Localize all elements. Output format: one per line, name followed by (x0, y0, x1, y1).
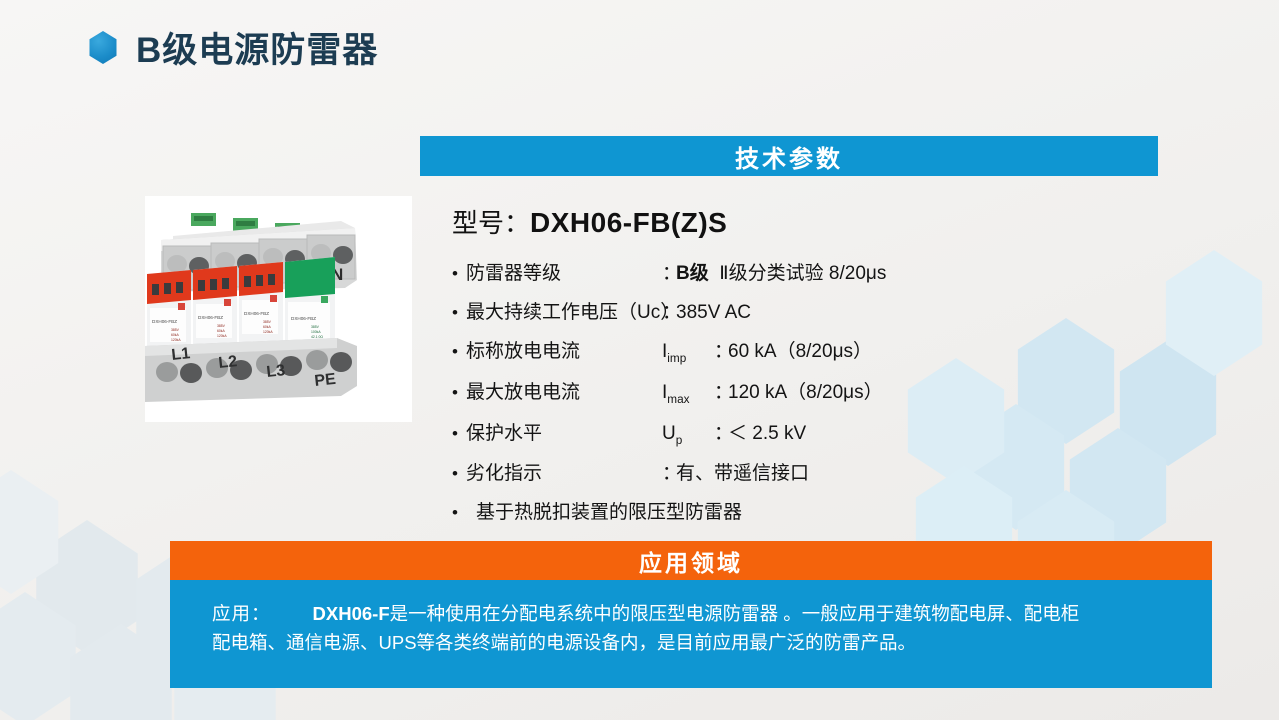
spec-colon: ： (714, 418, 728, 445)
spec-label: 劣化指示 (466, 458, 662, 485)
svg-text:120kA: 120kA (171, 338, 181, 342)
model-value: DXH06-FB(Z)S (530, 207, 727, 238)
application-lead: 应用： (212, 603, 271, 624)
spec-colon: ： (714, 336, 728, 363)
hexagon-icon (62, 624, 180, 720)
tech-params-header-text: 技术参数 (735, 139, 843, 174)
page-title: B级电源防雷器 (88, 22, 378, 73)
svg-text:385V: 385V (311, 325, 320, 329)
spec-summary-text: 基于热脱扣装置的限压型防雷器 (466, 497, 742, 524)
spec-colon: ： (662, 258, 676, 285)
svg-text:60kA: 60kA (171, 333, 179, 337)
model-label: 型号： (452, 208, 530, 238)
spec-label: 最大放电电流 (466, 377, 662, 404)
svg-text:DXH06-FBZ: DXH06-FBZ (291, 316, 316, 321)
spec-label: 最大持续工作电压（Uc） (466, 297, 662, 324)
slide-root: B级电源防雷器 技术参数 (0, 0, 1279, 720)
spec-row-iimp: • 标称放电电流 Iimp ： 60 kA（8/20μs） (452, 336, 1012, 365)
svg-text:DXH06-FBZ: DXH06-FBZ (152, 319, 177, 324)
spec-label: 保护水平 (466, 418, 662, 445)
spec-row-indicator: • 劣化指示 ： 有、带遥信接口 (452, 458, 1012, 485)
svg-text:DXH06-FBZ: DXH06-FBZ (198, 315, 223, 320)
spec-label: 标称放电电流 (466, 336, 662, 363)
spec-value: 120 kA（8/20μs） (728, 377, 883, 404)
bullet-icon: • (452, 465, 466, 482)
spec-row-imax: • 最大放电电流 Imax ： 120 kA（8/20μs） (452, 377, 1012, 406)
svg-text:120kA: 120kA (263, 330, 273, 334)
spec-symbol: Imax (662, 382, 714, 406)
svg-text:60kA: 60kA (217, 329, 225, 333)
svg-text:385V: 385V (217, 324, 226, 328)
page-title-text: B级电源防雷器 (136, 22, 378, 73)
hexagon-icon (1062, 428, 1174, 554)
spec-colon: ： (714, 377, 728, 404)
spec-symbol-sub: imp (667, 352, 686, 365)
spec-symbol-sub: max (667, 393, 689, 406)
spec-colon: ： (662, 458, 676, 485)
spec-value: 385V AC (676, 302, 751, 324)
hexagon-icon (1010, 318, 1122, 444)
application-header-text: 应用领域 (639, 544, 743, 578)
spec-value: 60 kA（8/20μs） (728, 336, 872, 363)
application-line1: 是一种使用在分配电系统中的限压型电源防雷器 。一般应用于建筑物配电屏、配电柜 (390, 603, 1080, 624)
spec-row-grade: • 防雷器等级 ： B级 Ⅱ级分类试验 8/20μs (452, 258, 1012, 285)
application-header: 应用领域 (170, 541, 1212, 580)
bullet-icon: • (452, 265, 466, 282)
bullet-icon: • (452, 384, 466, 401)
hexagon-icon (88, 31, 118, 64)
hexagon-icon (0, 470, 66, 594)
spec-value: ＜ 2.5 kV (728, 418, 806, 445)
application-text: 应用：DXH06-F是一种使用在分配电系统中的限压型电源防雷器 。一般应用于建筑… (212, 599, 1198, 657)
svg-text:L2: L2 (218, 353, 238, 372)
spec-symbol: Up (662, 423, 714, 447)
hexagon-icon (1158, 250, 1270, 376)
model-line: 型号：DXH06-FB(Z)S (452, 203, 727, 240)
spec-colon: ： (662, 297, 676, 324)
spec-value-bold: B级 (676, 263, 709, 284)
svg-text:385V: 385V (171, 328, 180, 332)
spec-value-rest: Ⅱ级分类试验 8/20μs (719, 263, 886, 284)
svg-text:L3: L3 (266, 362, 286, 381)
bullet-icon: • (452, 304, 466, 321)
hexagon-icon (1112, 340, 1224, 466)
svg-text:42.1 0Ω: 42.1 0Ω (311, 335, 323, 339)
application-line2: 配电箱、通信电源、UPS等各类终端前的电源设备内，是目前应用最广泛的防雷产品。 (212, 632, 916, 653)
hexagon-icon (0, 592, 84, 720)
svg-text:385V: 385V (263, 320, 272, 324)
product-photo-illustration: N (145, 196, 412, 422)
application-model: DXH06-F (313, 603, 390, 624)
spec-value: B级 Ⅱ级分类试验 8/20μs (676, 258, 886, 285)
svg-text:100kA: 100kA (311, 330, 321, 334)
tech-params-header: 技术参数 (420, 136, 1158, 176)
svg-text:DXH06-FBZ: DXH06-FBZ (244, 311, 269, 316)
application-body: 应用：DXH06-F是一种使用在分配电系统中的限压型电源防雷器 。一般应用于建筑… (170, 580, 1212, 688)
bullet-icon: • (452, 425, 466, 442)
hexagon-icon (28, 520, 146, 654)
spec-label: 防雷器等级 (466, 258, 662, 285)
spec-symbol-base: U (662, 423, 676, 444)
svg-text:120kA: 120kA (217, 334, 227, 338)
spec-symbol: Iimp (662, 341, 714, 365)
svg-text:60kA: 60kA (263, 325, 271, 329)
spec-list: • 防雷器等级 ： B级 Ⅱ级分类试验 8/20μs • 最大持续工作电压（Uc… (452, 258, 1012, 536)
spec-row-summary: • 基于热脱扣装置的限压型防雷器 (452, 497, 1012, 524)
spec-value: 有、带遥信接口 (676, 458, 809, 485)
bullet-icon: • (452, 504, 466, 521)
svg-text:PE: PE (314, 371, 337, 390)
bullet-icon: • (452, 343, 466, 360)
spec-symbol-sub: p (676, 433, 683, 446)
svg-text:L1: L1 (171, 345, 191, 364)
product-photo: N (145, 196, 412, 422)
spec-row-uc: • 最大持续工作电压（Uc） ： 385V AC (452, 297, 1012, 324)
spec-row-up: • 保护水平 Up ： ＜ 2.5 kV (452, 418, 1012, 447)
